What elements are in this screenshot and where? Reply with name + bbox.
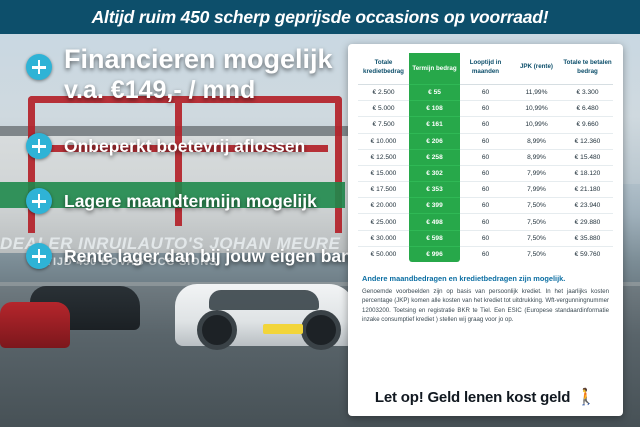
cell-monthly-amount: € 353: [409, 182, 460, 198]
table-body: € 2.500 € 55 60 11,99% € 3.300 € 5.000 €…: [358, 84, 613, 262]
cell-apr: 7,99%: [511, 165, 562, 181]
cell-apr: 7,50%: [511, 230, 562, 246]
cell-term-months: 60: [460, 101, 511, 117]
cell-total-credit: € 30.000: [358, 230, 409, 246]
cell-apr: 7,99%: [511, 182, 562, 198]
headline-block: Financieren mogelijk v.a. €149,- / mnd: [26, 44, 356, 104]
column-header-term-months: Looptijd in maanden: [460, 53, 511, 84]
cell-term-months: 60: [460, 133, 511, 149]
cell-total-credit: € 50.000: [358, 246, 409, 262]
column-header-apr: JPK (rente): [511, 53, 562, 84]
bullet-label: Onbeperkt boetevrij aflossen: [64, 136, 305, 157]
card-note-body: Genoemde voorbeelden zijn op basis van p…: [362, 287, 609, 324]
cell-term-months: 60: [460, 198, 511, 214]
cell-total-credit: € 7.500: [358, 117, 409, 133]
cell-apr: 8,99%: [511, 133, 562, 149]
bullet-label: Lagere maandtermijn mogelijk: [64, 191, 317, 212]
top-banner: Altijd ruim 450 scherp geprijsde occasio…: [0, 0, 640, 34]
table-row: € 12.500 € 258 60 8,99% € 15.480: [358, 149, 613, 165]
table-row: € 30.000 € 598 60 7,50% € 35.880: [358, 230, 613, 246]
car-wheel-front: [197, 310, 237, 350]
cell-apr: 7,50%: [511, 214, 562, 230]
plus-icon: [26, 133, 52, 159]
table-row: € 25.000 € 498 60 7,50% € 29.880: [358, 214, 613, 230]
cell-total-payable: € 18.120: [562, 165, 613, 181]
cell-term-months: 60: [460, 149, 511, 165]
car-wheel-rear: [301, 310, 341, 350]
cell-term-months: 60: [460, 230, 511, 246]
cell-monthly-amount: € 996: [409, 246, 460, 262]
walking-person-icon: 🚶: [576, 390, 596, 406]
left-content-column: Financieren mogelijk v.a. €149,- / mnd O…: [26, 44, 356, 269]
cell-monthly-amount: € 302: [409, 165, 460, 181]
bullet-label: Rente lager dan bij jouw eigen bank: [64, 246, 362, 267]
plus-icon: [26, 54, 52, 80]
table-row: € 50.000 € 996 60 7,50% € 59.760: [358, 246, 613, 262]
cell-term-months: 60: [460, 165, 511, 181]
cell-total-credit: € 2.500: [358, 84, 409, 100]
cell-total-credit: € 5.000: [358, 101, 409, 117]
cell-apr: 10,99%: [511, 101, 562, 117]
table-header-row: Totale kredietbedrag Termijn bedrag Loop…: [358, 53, 613, 84]
headline-line-1: Financieren mogelijk: [64, 44, 356, 74]
cell-apr: 10,99%: [511, 117, 562, 133]
cell-term-months: 60: [460, 84, 511, 100]
column-header-total-credit: Totale kredietbedrag: [358, 53, 409, 84]
cell-term-months: 60: [460, 246, 511, 262]
cell-monthly-amount: € 498: [409, 214, 460, 230]
license-plate: [263, 324, 303, 334]
cell-total-credit: € 17.500: [358, 182, 409, 198]
column-header-total-payable: Totale te betalen bedrag: [562, 53, 613, 84]
cell-total-payable: € 35.880: [562, 230, 613, 246]
cell-total-credit: € 20.000: [358, 198, 409, 214]
table-row: € 15.000 € 302 60 7,99% € 18.120: [358, 165, 613, 181]
table-row: € 2.500 € 55 60 11,99% € 3.300: [358, 84, 613, 100]
financing-card: Totale kredietbedrag Termijn bedrag Loop…: [348, 44, 623, 416]
cell-total-payable: € 29.880: [562, 214, 613, 230]
table-row: € 5.000 € 108 60 10,99% € 6.480: [358, 101, 613, 117]
cell-total-payable: € 3.300: [562, 84, 613, 100]
car-red: [0, 302, 70, 348]
cell-apr: 7,50%: [511, 246, 562, 262]
cell-total-payable: € 15.480: [562, 149, 613, 165]
cell-monthly-amount: € 258: [409, 149, 460, 165]
bullet-item-3: Rente lager dan bij jouw eigen bank: [26, 243, 356, 269]
cell-total-payable: € 23.940: [562, 198, 613, 214]
plus-icon: [26, 243, 52, 269]
plus-icon: [26, 188, 52, 214]
cell-total-credit: € 10.000: [358, 133, 409, 149]
car-white: [175, 284, 355, 346]
cell-monthly-amount: € 108: [409, 101, 460, 117]
cell-total-payable: € 12.360: [562, 133, 613, 149]
cell-monthly-amount: € 206: [409, 133, 460, 149]
warning-text: Let op! Geld lenen kost geld: [375, 389, 570, 406]
bullet-item-1: Onbeperkt boetevrij aflossen: [26, 133, 356, 159]
cell-apr: 7,50%: [511, 198, 562, 214]
cell-total-payable: € 9.660: [562, 117, 613, 133]
cell-monthly-amount: € 399: [409, 198, 460, 214]
cell-monthly-amount: € 161: [409, 117, 460, 133]
headline-line-2: v.a. €149,- / mnd: [64, 76, 356, 104]
cell-total-payable: € 59.760: [562, 246, 613, 262]
car-window: [209, 290, 319, 310]
table-row: € 20.000 € 399 60 7,50% € 23.940: [358, 198, 613, 214]
table-row: € 10.000 € 206 60 8,99% € 12.360: [358, 133, 613, 149]
cell-monthly-amount: € 55: [409, 84, 460, 100]
cell-term-months: 60: [460, 182, 511, 198]
cell-total-payable: € 6.480: [562, 101, 613, 117]
card-note-title: Andere maandbedragen en kredietbedragen …: [362, 274, 609, 283]
cell-total-credit: € 15.000: [358, 165, 409, 181]
cell-apr: 8,99%: [511, 149, 562, 165]
financing-rate-table: Totale kredietbedrag Termijn bedrag Loop…: [358, 53, 613, 262]
cell-total-credit: € 12.500: [358, 149, 409, 165]
cell-term-months: 60: [460, 117, 511, 133]
cell-total-payable: € 21.180: [562, 182, 613, 198]
cell-monthly-amount: € 598: [409, 230, 460, 246]
warning-block: Let op! Geld lenen kost geld 🚶: [348, 389, 623, 406]
cell-term-months: 60: [460, 214, 511, 230]
cell-apr: 11,99%: [511, 84, 562, 100]
cell-total-credit: € 25.000: [358, 214, 409, 230]
column-header-monthly-amount: Termijn bedrag: [409, 53, 460, 84]
banner-text: Altijd ruim 450 scherp geprijsde occasio…: [92, 7, 549, 28]
table-row: € 17.500 € 353 60 7,99% € 21.180: [358, 182, 613, 198]
table-row: € 7.500 € 161 60 10,99% € 9.660: [358, 117, 613, 133]
bullet-item-2: Lagere maandtermijn mogelijk: [26, 188, 356, 214]
